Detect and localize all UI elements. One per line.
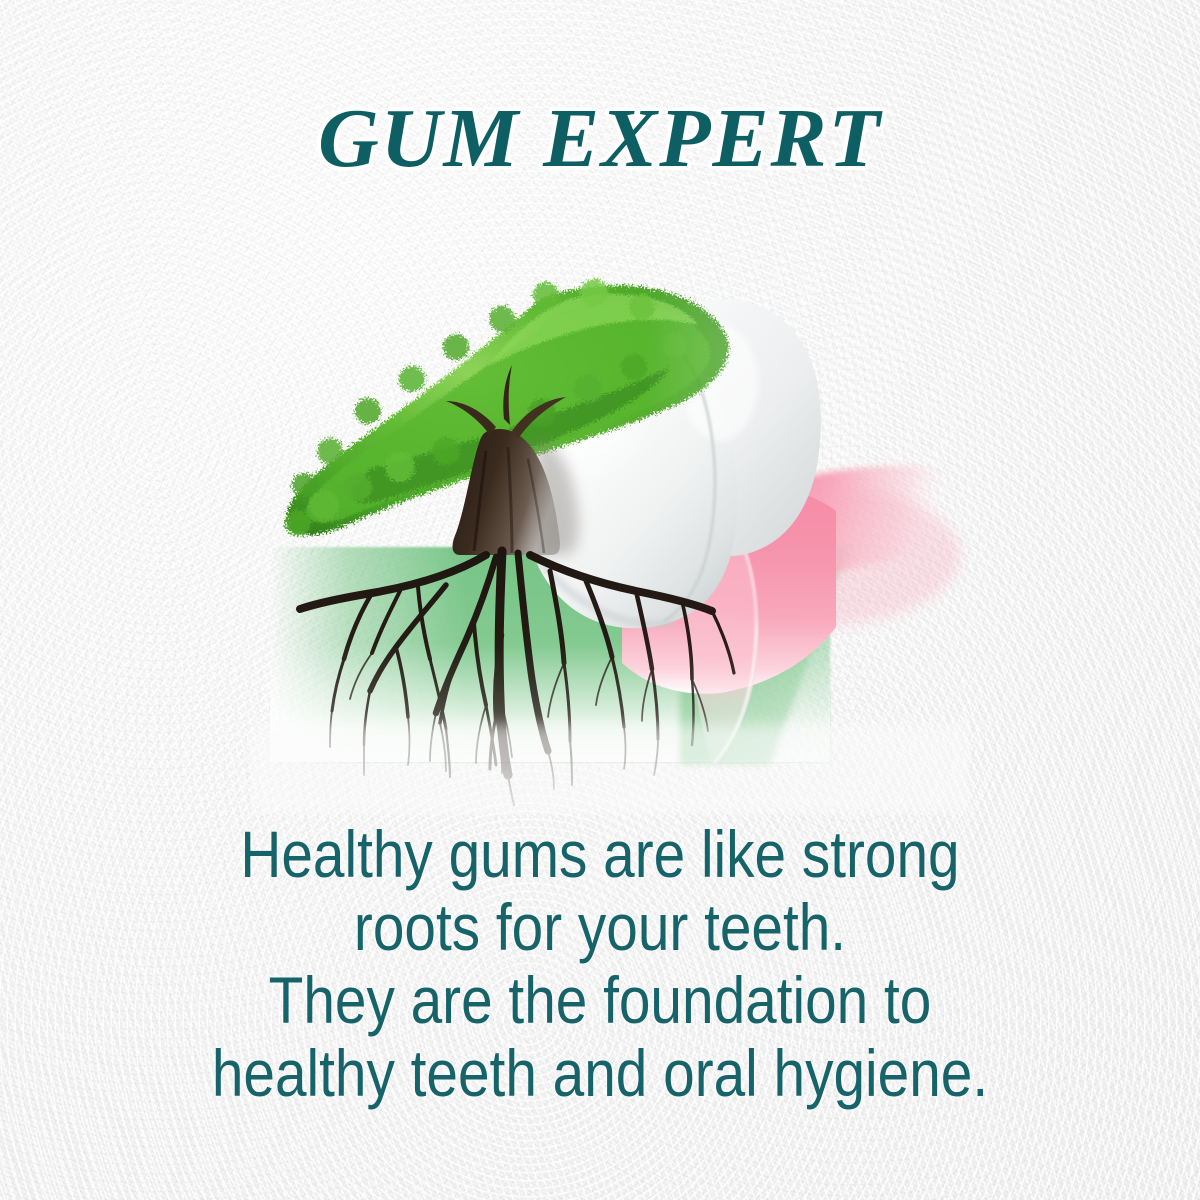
body-copy: Healthy gums are like strong roots for y…	[84, 818, 1116, 1110]
illustration-svg	[250, 255, 970, 815]
page-title: GUM EXPERT	[318, 96, 882, 182]
tree-to-tooth-illustration	[250, 255, 970, 815]
body-line-4: healthy teeth and oral hygiene.	[84, 1037, 1116, 1110]
body-line-3: They are the foundation to	[84, 964, 1116, 1037]
body-line-1: Healthy gums are like strong	[84, 818, 1116, 891]
poster-canvas: GUM EXPERT	[0, 0, 1200, 1200]
page-title-container: GUM EXPERT	[0, 96, 1200, 182]
body-line-2: roots for your teeth.	[84, 891, 1116, 964]
root-fade-veil	[250, 725, 970, 815]
